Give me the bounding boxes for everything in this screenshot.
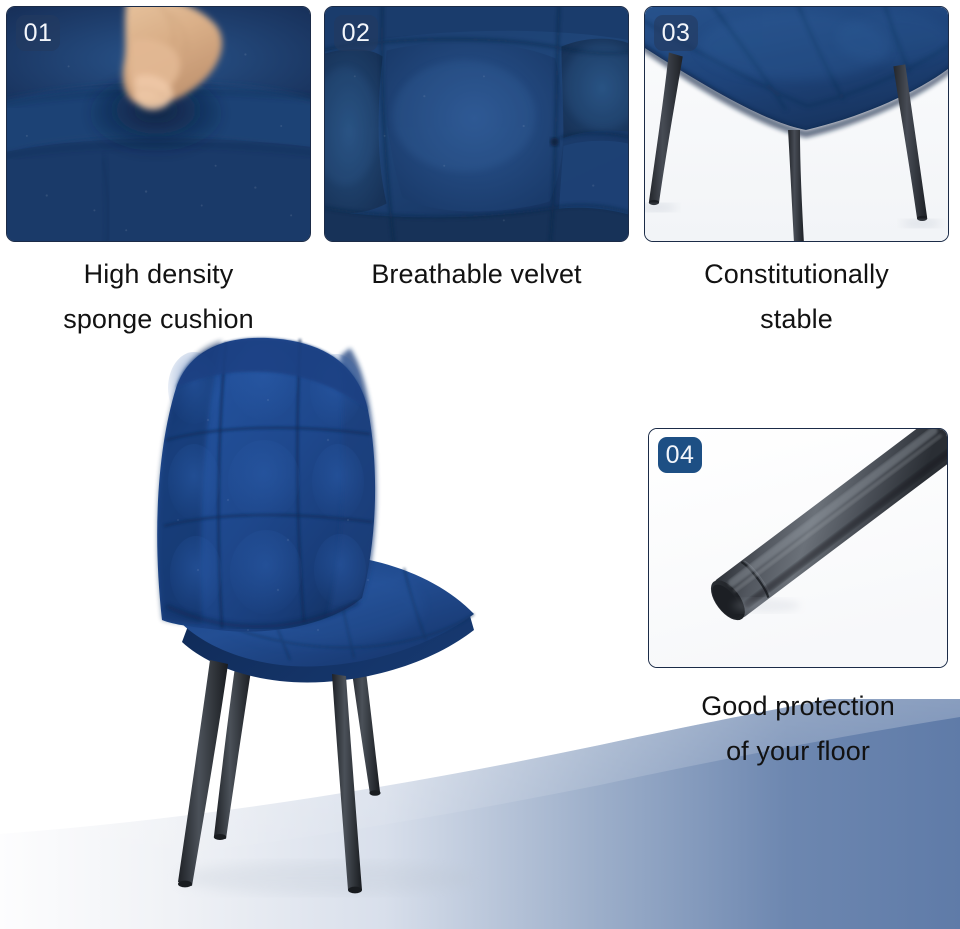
panel-04-caption: Good protection of your floor (636, 684, 960, 774)
feature-panel-01[interactable]: 01 (6, 6, 311, 242)
panel-03-badge: 03 (654, 15, 698, 51)
panel-02-badge: 02 (334, 15, 378, 51)
feature-panel-03[interactable]: 03 (644, 6, 949, 242)
feature-panel-04[interactable]: 04 (648, 428, 948, 668)
feature-panel-02[interactable]: 02 (324, 6, 629, 242)
panel-02-caption: Breathable velvet (324, 252, 629, 297)
infographic-canvas: 01 High density sponge cushion (0, 0, 960, 929)
panel-01-caption: High density sponge cushion (6, 252, 311, 342)
panel-04-badge: 04 (658, 437, 702, 473)
panel-01-badge: 01 (16, 15, 60, 51)
panel-03-caption: Constitutionally stable (644, 252, 949, 342)
hero-chair-photo (118, 330, 538, 900)
